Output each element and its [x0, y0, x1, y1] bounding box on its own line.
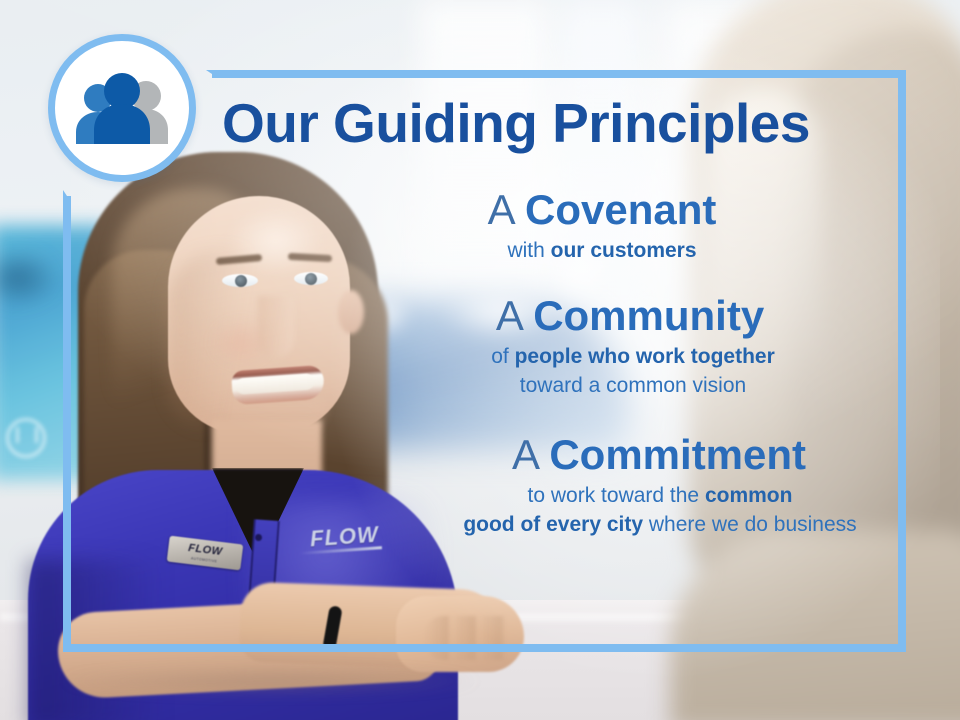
- principle-commitment: A Commitment to work toward the common g…: [418, 431, 900, 540]
- shirt-button: [255, 534, 262, 541]
- principle-text-plain: with: [507, 239, 550, 262]
- principle-description: with our customers: [304, 237, 900, 266]
- customer-shoulder: [670, 530, 960, 720]
- principle-text-bold: our customers: [551, 239, 697, 262]
- fingers: [424, 616, 528, 660]
- principle-community: A Community of people who work together …: [360, 292, 900, 401]
- principle-text-plain: of: [491, 345, 514, 368]
- principle-keyword: Commitment: [549, 431, 806, 478]
- principle-text-bold: common: [705, 484, 793, 507]
- eye-left: [222, 274, 258, 287]
- principle-description: of people who work together toward a com…: [366, 343, 900, 401]
- principle-article: A: [512, 431, 538, 478]
- principle-heading: A Covenant: [304, 186, 900, 233]
- principle-heading: A Community: [360, 292, 900, 339]
- principle-covenant: A Covenant with our customers: [304, 186, 900, 266]
- principle-text-plain: to work toward the: [528, 484, 705, 507]
- principle-text-bold: people who work together: [515, 345, 775, 368]
- principle-heading: A Commitment: [418, 431, 900, 478]
- principle-text-plain-2: toward a common vision: [520, 374, 746, 397]
- principle-article: A: [496, 292, 522, 339]
- people-group-badge: [48, 34, 196, 182]
- principle-keyword: Covenant: [525, 186, 716, 233]
- principle-description: to work toward the common good of every …: [420, 482, 900, 540]
- principle-text-bold-2: good of every city: [463, 513, 643, 536]
- arm-shadow: [60, 668, 480, 694]
- principle-text-plain-3: where we do business: [643, 513, 857, 536]
- people-group-icon: [70, 72, 174, 144]
- banner-image: FLOW AUTOMOTIVE FLOW: [0, 0, 960, 720]
- principles-list: A Covenant with our customers A Communit…: [300, 186, 900, 546]
- principle-article: A: [488, 186, 514, 233]
- principle-keyword: Community: [533, 292, 764, 339]
- page-title: Our Guiding Principles: [222, 96, 882, 151]
- nose: [258, 296, 294, 358]
- name-badge-subtext: AUTOMOTIVE: [191, 556, 218, 563]
